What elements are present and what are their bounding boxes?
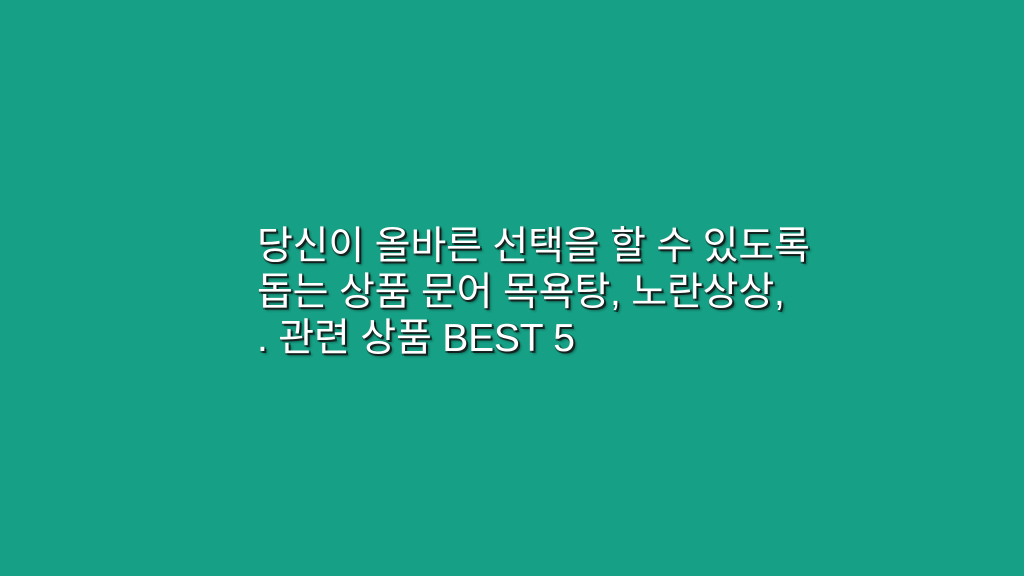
banner-canvas: 당신이 올바른 선택을 할 수 있도록 돕는 상품 문어 목욕탕, 노란상상, … (0, 0, 1024, 576)
headline-text-block: 당신이 올바른 선택을 할 수 있도록 돕는 상품 문어 목욕탕, 노란상상, … (257, 224, 797, 362)
headline-line-3: . 관련 상품 BEST 5 (257, 316, 797, 362)
headline-line-2: 돕는 상품 문어 목욕탕, 노란상상, (257, 270, 797, 316)
headline-line-1: 당신이 올바른 선택을 할 수 있도록 (257, 224, 797, 270)
